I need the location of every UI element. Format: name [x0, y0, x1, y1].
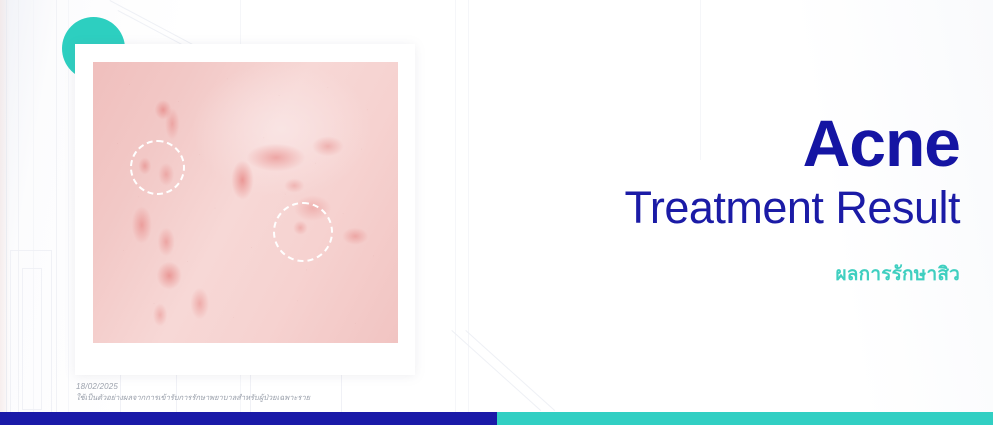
backdrop-edge-line-1: [6, 0, 7, 425]
slide-canvas: 18/02/2025 ใช้เป็นตัวอย่างผลจากการเข้ารั…: [0, 0, 993, 425]
bottom-bar-teal-segment: [497, 412, 993, 425]
page-title: Acne: [400, 112, 960, 175]
caption-disclaimer: ใช้เป็นตัวอย่างผลจากการเข้ารับการรักษาพย…: [76, 393, 310, 402]
annotation-circle-1: [130, 140, 185, 195]
heading-group: Acne Treatment Result ผลการรักษาสิว: [400, 112, 960, 289]
background-pink-edge: [0, 0, 10, 425]
backdrop-edge-line-3: [33, 0, 34, 425]
bottom-accent-bar: [0, 412, 993, 425]
bottom-bar-navy-segment: [0, 412, 497, 425]
skin-pores-overlay: [93, 62, 398, 343]
photo-card[interactable]: [75, 44, 415, 375]
annotation-circle-2: [273, 202, 333, 262]
backdrop-diagonal-3: [451, 330, 541, 411]
caption-date: 18/02/2025: [76, 382, 310, 392]
backdrop-panel-1: [10, 250, 52, 425]
backdrop-panel-2: [22, 268, 42, 410]
backdrop-edge-line-4: [56, 0, 57, 425]
acne-skin-photo: [93, 62, 398, 343]
backdrop-edge-line-2: [18, 0, 19, 425]
page-subtitle: Treatment Result: [400, 183, 960, 233]
page-subtitle-thai: ผลการรักษาสิว: [400, 259, 960, 289]
backdrop-diagonal-4: [465, 330, 555, 411]
photo-caption: 18/02/2025 ใช้เป็นตัวอย่างผลจากการเข้ารั…: [76, 382, 310, 402]
